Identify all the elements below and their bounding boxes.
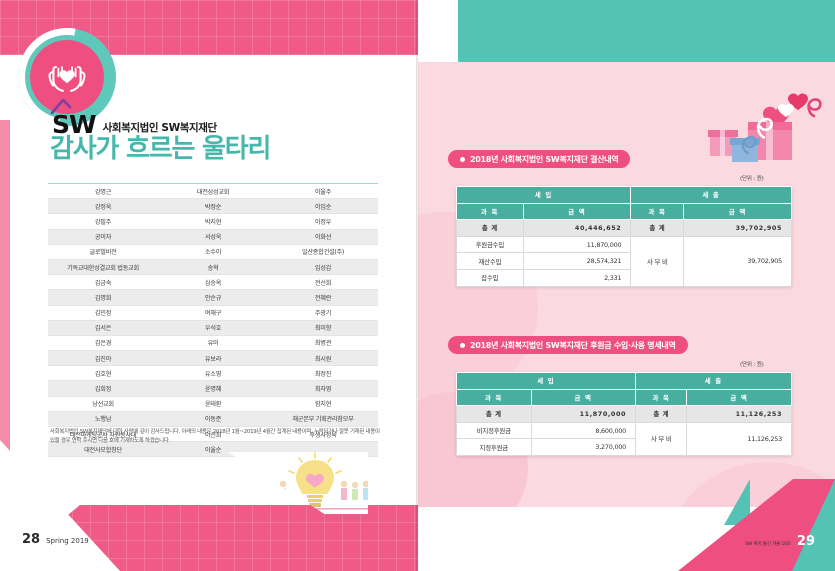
donor-name-cell: 최병관 xyxy=(268,335,378,350)
finance-income-amount: 8,600,000 xyxy=(531,422,636,439)
finance-row: 후원금수입11,870,000사 무 비39,702,905 xyxy=(457,236,792,253)
donor-row: 김은경유미최병관 xyxy=(48,335,378,350)
table-2-group-income: 세 입 xyxy=(457,373,636,390)
table-1-col-1: 금 액 xyxy=(523,203,631,220)
finance-income-label: 총 계 xyxy=(457,406,532,423)
donor-name-cell: 공미자 xyxy=(48,229,158,244)
table-1-col-2: 과 목 xyxy=(631,203,684,220)
donor-name-cell: 글로벌비전 xyxy=(48,244,158,259)
donor-row: 김진아유보라최시원 xyxy=(48,351,378,366)
finance-income-amount: 28,574,321 xyxy=(523,253,631,270)
finance-income-amount: 3,270,000 xyxy=(531,439,636,456)
left-page: SW 사회복지법인 SW복지재단 감사가 흐르는 울타리 강명근대전삼성교회이율… xyxy=(0,0,418,571)
table-2-col-3: 금 액 xyxy=(687,389,792,406)
donor-row: 글로벌비전소수이일산종합건설(주) xyxy=(48,244,378,259)
donor-names-table: 강명근대전삼성교회이율주강정욱박정순이임순강필주박지현이정우공미자서성욱이화선글… xyxy=(48,183,378,457)
donor-name-cell: 김금숙 xyxy=(48,275,158,290)
donor-name-cell: 우석호 xyxy=(158,320,268,335)
donor-name-cell: 노행남 xyxy=(48,411,158,426)
table-2-unit: (단위 : 원) xyxy=(740,360,764,368)
donor-row: 노행남이동준해군본부 기획관리참모부 xyxy=(48,411,378,426)
right-folio: SW 복지 통신 겨울 10호 29 xyxy=(745,534,815,549)
donor-name-cell: 박정순 xyxy=(158,199,268,214)
donor-name-cell: 윤태환 xyxy=(158,396,268,411)
hands-heart-icon xyxy=(47,59,87,95)
finance-income-amount: 11,870,000 xyxy=(531,406,636,423)
finance-expense-amount: 11,126,253 xyxy=(687,422,792,455)
table-1-title-pill: 2018년 사회복지법인 SW복지재단 결산내역 xyxy=(448,150,630,168)
bullet-dot-icon xyxy=(460,343,465,348)
bullet-dot-icon xyxy=(460,157,465,162)
left-folio: 28 Spring 2019 xyxy=(22,532,89,547)
table-2-title: 2018년 사회복지법인 SW복지재단 후원금 수입·사용 명세내역 xyxy=(470,340,676,351)
donor-name-cell: 김민정 xyxy=(48,305,158,320)
donor-footnote: 사회복지법인 SW복지재단에 대한 사랑에 깊이 감사드립니다. 아래의 내용은… xyxy=(50,428,380,447)
finance-income-label: 재산수입 xyxy=(457,253,524,270)
table-2-col-2: 과 목 xyxy=(636,389,687,406)
donor-name-cell: 김호현 xyxy=(48,366,158,381)
finance-expense-label: 총 계 xyxy=(631,220,684,237)
table-2-col-1: 금 액 xyxy=(531,389,636,406)
table-2-group-expense: 세 출 xyxy=(636,373,792,390)
pink-edge-stripe xyxy=(0,120,10,480)
table-1-group-income: 세 입 xyxy=(457,187,631,204)
donor-name-cell: 최시원 xyxy=(268,351,378,366)
right-page-number: 29 xyxy=(797,534,815,549)
donor-name-cell: 박지현 xyxy=(158,214,268,229)
donor-name-cell: 낭선교회 xyxy=(48,396,158,411)
finance-row: 총 계11,870,000총 계11,126,253 xyxy=(457,406,792,423)
donor-name-cell: 김은경 xyxy=(48,335,158,350)
donor-name-cell: 강명근 xyxy=(48,184,158,199)
magazine-spread: SW 사회복지법인 SW복지재단 감사가 흐르는 울타리 강명근대전삼성교회이율… xyxy=(0,0,835,571)
donor-row: 공미자서성욱이화선 xyxy=(48,229,378,244)
donor-name-cell: 일산종합건설(주) xyxy=(268,244,378,259)
right-page: 2018년 사회복지법인 SW복지재단 결산내역 (단위 : 원) 세 입 세 … xyxy=(418,0,835,571)
table-1-group-header-row: 세 입 세 출 xyxy=(457,187,792,204)
table-2-title-pill: 2018년 사회복지법인 SW복지재단 후원금 수입·사용 명세내역 xyxy=(448,336,688,354)
donor-row: 김민정여채구주광기 xyxy=(48,305,378,320)
donor-name-cell: 이화선 xyxy=(268,229,378,244)
donor-name-cell: 이율주 xyxy=(268,184,378,199)
donor-row: 김금숙심승옥전선희 xyxy=(48,275,378,290)
donor-row: 김명희안순규전혜란 xyxy=(48,290,378,305)
donor-name-cell: 유미 xyxy=(158,335,268,350)
donor-name-cell: 해군본부 기획관리참모부 xyxy=(268,411,378,426)
donor-name-cell: 최정진 xyxy=(268,366,378,381)
right-folio-text: SW 복지 통신 겨울 10호 xyxy=(745,541,791,547)
donor-row: 김서은우석호최미향 xyxy=(48,320,378,335)
donor-name-cell: 강필주 xyxy=(48,214,158,229)
finance-income-amount: 11,870,000 xyxy=(523,236,631,253)
finance-income-amount: 40,446,652 xyxy=(523,220,631,237)
donor-name-cell: 강정욱 xyxy=(48,199,158,214)
finance-expense-amount: 39,702,905 xyxy=(684,220,792,237)
donor-name-cell: 심승옥 xyxy=(158,275,268,290)
sw-check-accent-icon xyxy=(50,99,72,114)
finance-expense-label: 총 계 xyxy=(636,406,687,423)
finance-income-label: 후원금수입 xyxy=(457,236,524,253)
table-1-title: 2018년 사회복지법인 SW복지재단 결산내역 xyxy=(470,154,618,165)
donor-name-cell: 서성욱 xyxy=(158,229,268,244)
donor-name-cell: 임성갑 xyxy=(268,259,378,274)
donation-detail-table: 세 입 세 출 과 목 금 액 과 목 금 액 총 계11,870,000총 계… xyxy=(456,372,792,456)
table-1-col-3: 금 액 xyxy=(684,203,792,220)
donor-row: 강명근대전삼성교회이율주 xyxy=(48,184,378,199)
donor-name-cell: 유보라 xyxy=(158,351,268,366)
donor-name-cell: 이임순 xyxy=(268,199,378,214)
donor-row: 강필주박지현이정우 xyxy=(48,214,378,229)
donor-name-cell: 이정우 xyxy=(268,214,378,229)
table-2-column-header-row: 과 목 금 액 과 목 금 액 xyxy=(457,389,792,406)
donor-name-cell: 최자영 xyxy=(268,381,378,396)
donor-name-cell: 김명희 xyxy=(48,290,158,305)
page-title: 감사가 흐르는 울타리 xyxy=(50,136,270,162)
donor-name-cell: 대전삼성교회 xyxy=(158,184,268,199)
finance-expense-amount: 39,702,905 xyxy=(684,236,792,286)
donor-name-cell: 전선희 xyxy=(268,275,378,290)
left-folio-text: Spring 2019 xyxy=(46,537,89,545)
donor-name-cell: 안순규 xyxy=(158,290,268,305)
page-gutter-shadow xyxy=(416,0,419,571)
left-page-number: 28 xyxy=(22,532,40,547)
donor-row: 기독교대한성결교회 법동교회송혁임성갑 xyxy=(48,259,378,274)
donor-name-cell: 송혁 xyxy=(158,259,268,274)
table-2-group-header-row: 세 입 세 출 xyxy=(457,373,792,390)
finance-expense-label: 사 무 비 xyxy=(636,422,687,455)
top-white-notch xyxy=(418,0,458,62)
table-1-col-0: 과 목 xyxy=(457,203,524,220)
finance-income-label: 총 계 xyxy=(457,220,524,237)
donor-name-cell: 기독교대한성결교회 법동교회 xyxy=(48,259,158,274)
donor-name-cell: 최미향 xyxy=(268,320,378,335)
table-1-column-header-row: 과 목 금 액 과 목 금 액 xyxy=(457,203,792,220)
finance-row: 비지정후원금8,600,000사 무 비11,126,253 xyxy=(457,422,792,439)
donor-name-cell: 김희정 xyxy=(48,381,158,396)
table-2-col-0: 과 목 xyxy=(457,389,532,406)
donor-name-cell: 여채구 xyxy=(158,305,268,320)
settlement-table: 세 입 세 출 과 목 금 액 과 목 금 액 총 계40,446,652총 계… xyxy=(456,186,792,287)
donor-name-cell: 이동준 xyxy=(158,411,268,426)
finance-row: 총 계40,446,652총 계39,702,905 xyxy=(457,220,792,237)
donor-name-cell: 김진아 xyxy=(48,351,158,366)
donor-name-cell: 유소영 xyxy=(158,366,268,381)
table-1-unit: (단위 : 원) xyxy=(740,174,764,182)
gift-boxes-hearts-icon xyxy=(690,88,835,170)
donor-row: 낭선교회윤태환함지현 xyxy=(48,396,378,411)
table-1-group-expense: 세 출 xyxy=(631,187,792,204)
finance-income-amount: 2,331 xyxy=(523,269,631,286)
donor-row: 강정욱박정순이임순 xyxy=(48,199,378,214)
donor-name-cell: 주광기 xyxy=(268,305,378,320)
donor-row: 김희정윤명혜최자영 xyxy=(48,381,378,396)
finance-income-label: 지정후원금 xyxy=(457,439,532,456)
donor-name-cell: 전혜란 xyxy=(268,290,378,305)
donor-name-cell: 윤명혜 xyxy=(158,381,268,396)
donor-row: 김호현유소영최정진 xyxy=(48,366,378,381)
finance-expense-amount: 11,126,253 xyxy=(687,406,792,423)
finance-income-label: 잡수입 xyxy=(457,269,524,286)
top-teal-band xyxy=(418,0,835,62)
donor-name-cell: 함지현 xyxy=(268,396,378,411)
finance-expense-label: 사 무 비 xyxy=(631,236,684,286)
finance-income-label: 비지정후원금 xyxy=(457,422,532,439)
donor-name-cell: 김서은 xyxy=(48,320,158,335)
donor-name-cell: 소수이 xyxy=(158,244,268,259)
